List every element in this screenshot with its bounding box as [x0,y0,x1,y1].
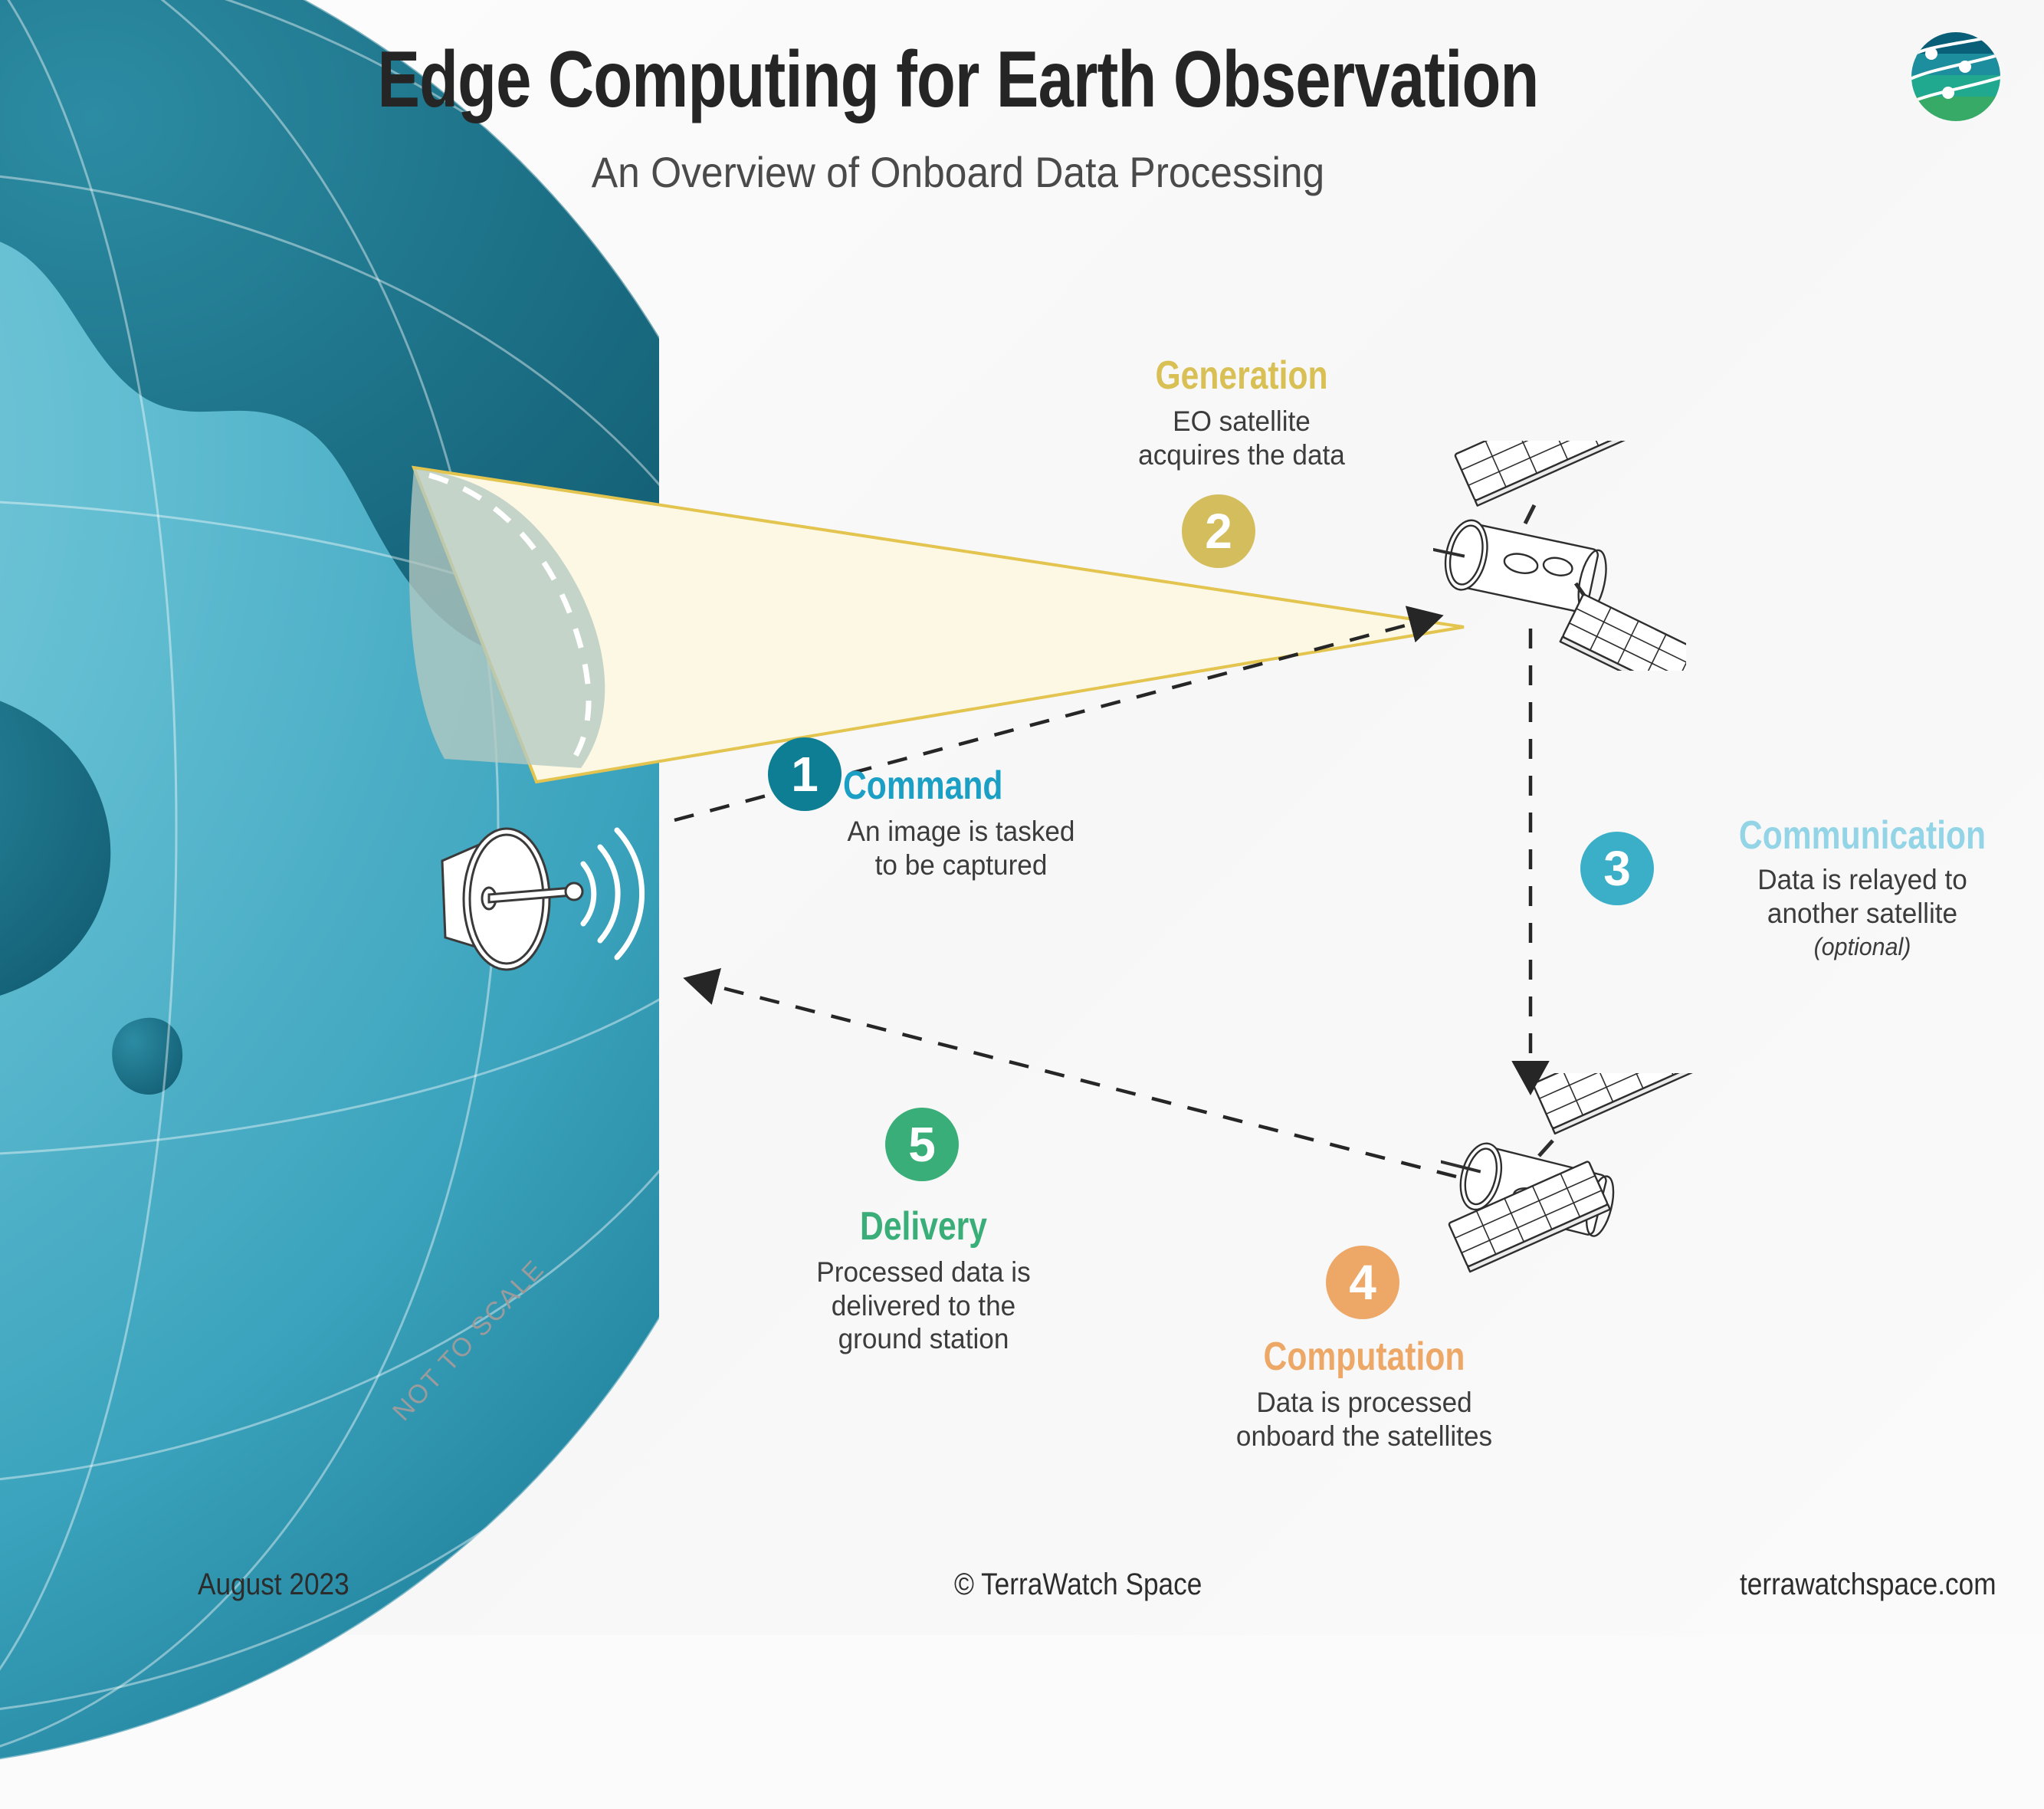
step-desc-line: onboard the satellites [1183,1420,1547,1453]
page-subtitle: An Overview of Onboard Data Processing [77,147,1839,197]
step-desc-line: Processed data is [742,1256,1106,1289]
step-desc-line: EO satellite [1045,405,1439,438]
step-badge-4[interactable]: 4 [1326,1246,1399,1319]
step-desc-line: delivered to the [742,1289,1106,1323]
step-badge-5[interactable]: 5 [885,1108,959,1181]
step-desc-line: another satellite [1658,897,2044,931]
step-desc-line: Data is processed [1183,1386,1547,1420]
step-badge-1[interactable]: 1 [768,737,842,811]
step-desc-line: Data is relayed to [1658,863,2044,897]
step-communication: Communication Data is relayed to another… [1648,813,2044,961]
footer-date: August 2023 [198,1568,349,1602]
step-generation: Generation EO satellite acquires the dat… [1035,353,1449,471]
step-title-command: Command [843,763,1107,809]
arrow-delivery [690,980,1456,1177]
step-desc-line: acquires the data [1045,438,1439,472]
step-desc-line: ground station [742,1322,1106,1356]
step-title-generation: Generation [1072,353,1412,399]
step-desc-line: An image is tasked [815,815,1107,849]
step-desc-line: to be captured [815,849,1107,882]
step-title-computation: Computation [1207,1334,1521,1380]
step-badge-3[interactable]: 3 [1580,832,1654,905]
footer-copyright: © TerraWatch Space [954,1568,1202,1602]
step-note-optional: (optional) [1658,933,2044,961]
step-delivery: Delivery Processed data is delivered to … [732,1203,1115,1356]
step-title-communication: Communication [1686,813,2038,859]
step-command: Command An image is tasked to be capture… [843,763,1165,882]
page-title: Edge Computing for Earth Observation [192,34,1724,126]
terrawatch-globe-logo [1910,31,2002,123]
step-computation: Computation Data is processed onboard th… [1173,1334,1556,1453]
step-badge-2[interactable]: 2 [1182,494,1255,568]
infographic-canvas: Generation EO satellite acquires the dat… [0,0,2044,1635]
step-title-delivery: Delivery [766,1203,1081,1249]
footer-website[interactable]: terrawatchspace.com [1740,1568,1996,1602]
